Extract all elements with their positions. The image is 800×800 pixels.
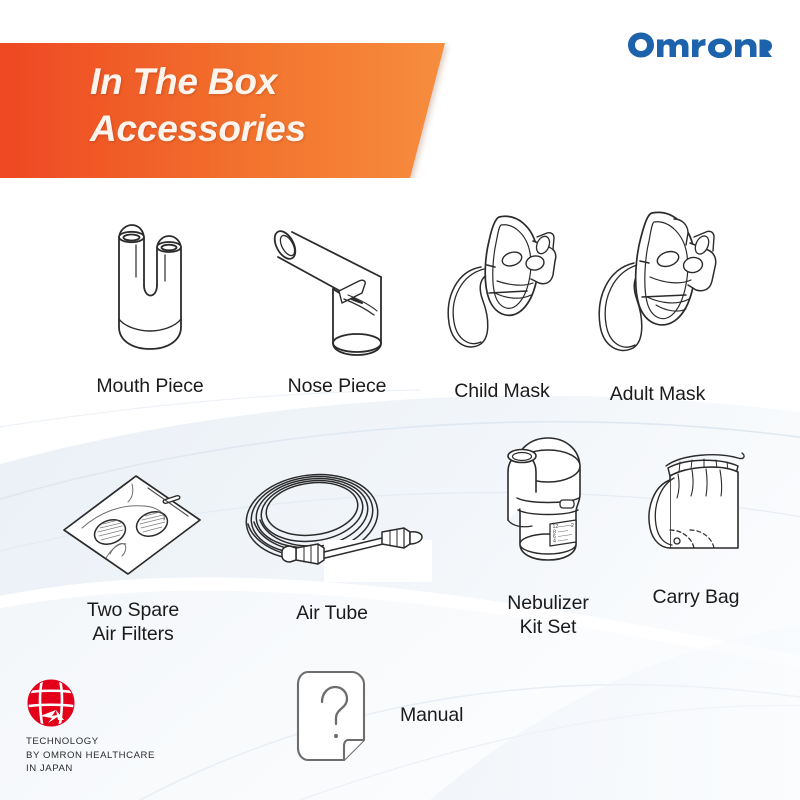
item-nose-piece: Nose Piece [252, 215, 422, 399]
carry-bag-icon [634, 440, 759, 570]
item-label: Two Spare Air Filters [38, 599, 228, 647]
air-filters-icon [48, 462, 218, 587]
item-label: Manual [400, 704, 463, 728]
scale-mark: 4 [553, 539, 556, 545]
item-label: Nose Piece [252, 375, 422, 399]
manual-document-icon [296, 668, 372, 764]
item-adult-mask: Adult Mask [580, 205, 735, 407]
item-child-mask: Child Mask [432, 205, 572, 404]
badge-text: TECHNOLOGY BY OMRON HEALTHCARE IN JAPAN [26, 735, 216, 776]
infographic-page: In The Box Accessories [0, 0, 800, 800]
banner-title-line-2: Accessories [90, 106, 450, 153]
child-mask-icon [437, 205, 567, 370]
item-label: Carry Bag [616, 586, 776, 610]
item-air-tube: Air Tube [232, 462, 432, 626]
item-mouth-piece: Mouth Piece [72, 215, 228, 399]
nose-piece-icon [262, 215, 412, 365]
technology-in-japan-badge: TECHNOLOGY BY OMRON HEALTHCARE IN JAPAN [26, 678, 216, 776]
air-tube-icon [232, 462, 432, 582]
item-label: Air Tube [232, 602, 432, 626]
header-banner: In The Box Accessories [0, 43, 490, 178]
item-nebulizer: 12 8 6 4 2 Nebulizer Kit Set [462, 432, 634, 640]
scale-mark: 2 [571, 523, 574, 529]
item-air-filters: Two Spare Air Filters [38, 462, 228, 647]
japan-globe-mark [26, 678, 76, 728]
adult-mask-icon [588, 205, 728, 373]
mouth-piece-icon [95, 215, 205, 365]
nebulizer-kit-icon: 12 8 6 4 2 [488, 432, 608, 582]
item-carry-bag: Carry Bag [616, 440, 776, 610]
banner-title: In The Box Accessories [90, 59, 450, 153]
item-label: Nebulizer Kit Set [462, 592, 634, 640]
item-label: Adult Mask [580, 383, 735, 407]
banner-title-line-1: In The Box [90, 59, 450, 106]
item-label: Mouth Piece [72, 375, 228, 399]
item-label: Child Mask [432, 380, 572, 404]
item-manual: Manual [296, 668, 463, 764]
omron-logo [627, 27, 772, 63]
